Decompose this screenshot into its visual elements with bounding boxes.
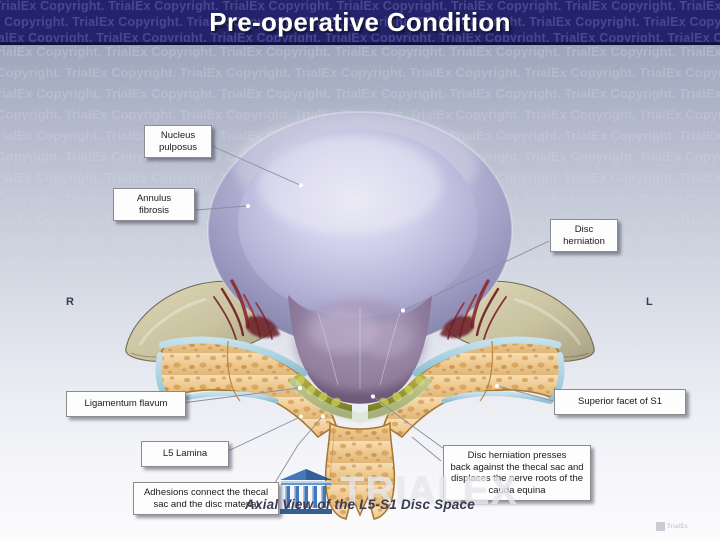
label-herniation-note: Disc herniation presses back against the…: [443, 445, 591, 501]
label-nucleus-pulposus: Nucleus pulposus: [144, 125, 212, 158]
anatomy-artwork: [0, 45, 720, 539]
orientation-marker-right: R: [66, 296, 74, 308]
label-ligamentum-flavum: Ligamentum flavum: [66, 391, 186, 417]
page-title: Pre-operative Condition: [0, 7, 720, 38]
corner-brand-mark: TrialEx: [656, 520, 714, 533]
orientation-marker-left: L: [646, 296, 653, 308]
figure-caption: Axial View of the L5-S1 Disc Space: [0, 497, 720, 512]
illustration-canvas: TrialEx Copyright. TrialEx Copyright. Tr…: [0, 45, 720, 539]
corner-logo-icon: [656, 522, 665, 531]
label-annulus-fibrosis: Annulus fibrosis: [113, 188, 195, 221]
label-disc-herniation: Disc herniation: [550, 219, 618, 252]
label-superior-facet-s1: Superior facet of S1: [554, 389, 686, 415]
corner-brand-text: TrialEx: [667, 524, 688, 530]
label-l5-lamina: L5 Lamina: [141, 441, 229, 467]
illustration-page: TrialEx Copyright. TrialEx Copyright. Tr…: [0, 0, 720, 539]
page-header: TrialEx Copyright. TrialEx Copyright. Tr…: [0, 0, 720, 45]
